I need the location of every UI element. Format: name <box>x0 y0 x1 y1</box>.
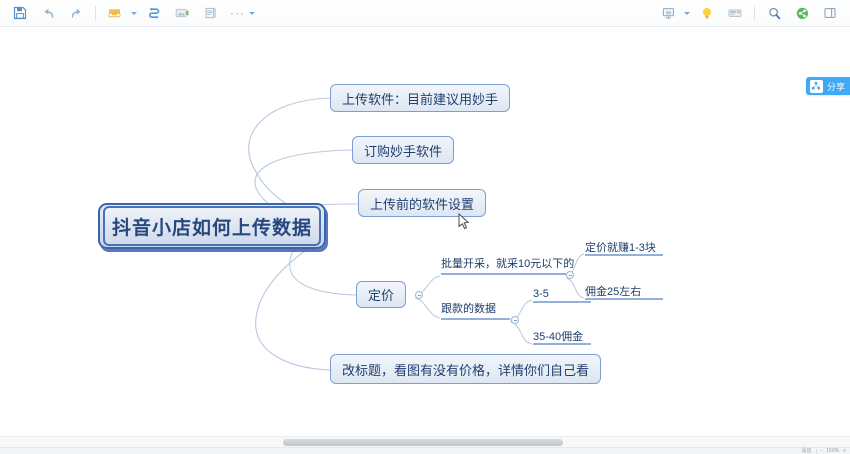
vertical-scrollbar[interactable] <box>846 56 850 436</box>
node-label: 3-5 <box>533 288 549 300</box>
toolbar-divider-2 <box>754 6 755 20</box>
bulk-sourcing-collapse-handle-icon[interactable] <box>566 271 574 279</box>
node-label: 定价就赚1-3块 <box>585 239 656 255</box>
mindmap-node-range-3-5[interactable]: 3-5 <box>533 286 591 303</box>
horizontal-scrollbar-thumb[interactable] <box>283 439 563 446</box>
presentation-icon[interactable] <box>657 3 679 23</box>
pricing-collapse-handle-icon[interactable] <box>415 291 423 299</box>
panel-toggle-icon[interactable] <box>819 3 841 23</box>
horizontal-scrollbar[interactable] <box>0 436 850 447</box>
share-nodes-icon <box>810 80 823 93</box>
presentation-dropdown-icon[interactable] <box>682 3 691 23</box>
format-painter-icon[interactable] <box>104 3 126 23</box>
mindmap-node-profit-per-item[interactable]: 定价就赚1-3块 <box>585 239 663 256</box>
toolbar-divider-1 <box>95 6 96 20</box>
node-label: 订购妙手软件 <box>364 141 442 160</box>
zoom-in-button[interactable]: + <box>843 448 846 454</box>
mindmap-node-commission-25[interactable]: 佣金25左右 <box>585 283 663 300</box>
share-icon[interactable] <box>791 3 813 23</box>
idea-bulb-icon[interactable] <box>696 3 718 23</box>
toolbar: ··· <box>0 0 850 27</box>
mindmap-node-follow-data[interactable]: 跟款的数据 <box>441 298 510 320</box>
mindmap-node-presettings[interactable]: 上传前的软件设置 <box>358 189 486 217</box>
save-icon[interactable] <box>9 3 31 23</box>
search-icon[interactable] <box>763 3 785 23</box>
toolbar-more-icon[interactable]: ··· <box>230 8 245 18</box>
share-floating-panel[interactable]: 分享 <box>806 77 850 95</box>
node-label: 改标题，看图有没有价格，详情你们自己看 <box>342 360 589 379</box>
swap-layout-icon[interactable] <box>143 3 165 23</box>
node-label: 佣金25左右 <box>585 283 641 299</box>
zoom-level-label: 150% <box>826 448 839 454</box>
mindmap-node-upload-software[interactable]: 上传软件：目前建议用妙手 <box>330 84 510 112</box>
fit-view-icon[interactable]: 适应 <box>802 448 812 454</box>
mindmap-node-commission-35-40[interactable]: 35-40佣金 <box>533 328 591 345</box>
format-painter-dropdown-icon[interactable] <box>129 3 138 23</box>
undo-icon[interactable] <box>37 3 59 23</box>
follow-data-collapse-handle-icon[interactable] <box>511 316 519 324</box>
mindmap-root-node[interactable]: 抖音小店如何上传数据 <box>98 203 326 249</box>
mindmap-node-order-software[interactable]: 订购妙手软件 <box>352 136 454 164</box>
redo-icon[interactable] <box>65 3 87 23</box>
notes-icon[interactable] <box>199 3 221 23</box>
zoom-out-button[interactable]: - <box>821 448 823 454</box>
toolbar-more-dropdown-icon[interactable] <box>247 3 256 23</box>
node-label: 定价 <box>368 285 394 304</box>
share-panel-label: 分享 <box>827 80 845 93</box>
mindmap-canvas[interactable]: 抖音小店如何上传数据 上传软件：目前建议用妙手 订购妙手软件 上传前的软件设置 … <box>0 28 850 436</box>
toolbar-left-group: ··· <box>6 3 258 23</box>
mindmap-node-bulk-sourcing[interactable]: 批量开采，就采10元以下的 <box>441 253 566 275</box>
insert-image-icon[interactable] <box>171 3 193 23</box>
toolbar-right-group <box>654 3 844 23</box>
node-label: 上传软件：目前建议用妙手 <box>342 89 498 108</box>
statusbar-divider-1 <box>816 449 817 454</box>
mindmap-node-change-title[interactable]: 改标题，看图有没有价格，详情你们自己看 <box>330 354 601 384</box>
node-label: 上传前的软件设置 <box>370 194 474 213</box>
style-panel-icon[interactable] <box>724 3 746 23</box>
statusbar: 适应 - 150% + <box>0 447 850 454</box>
node-label: 35-40佣金 <box>533 328 583 344</box>
node-label: 跟款的数据 <box>441 300 496 316</box>
mindmap-root-label: 抖音小店如何上传数据 <box>103 206 321 246</box>
mindmap-node-pricing[interactable]: 定价 <box>356 281 406 308</box>
node-label: 批量开采，就采10元以下的 <box>441 255 574 271</box>
